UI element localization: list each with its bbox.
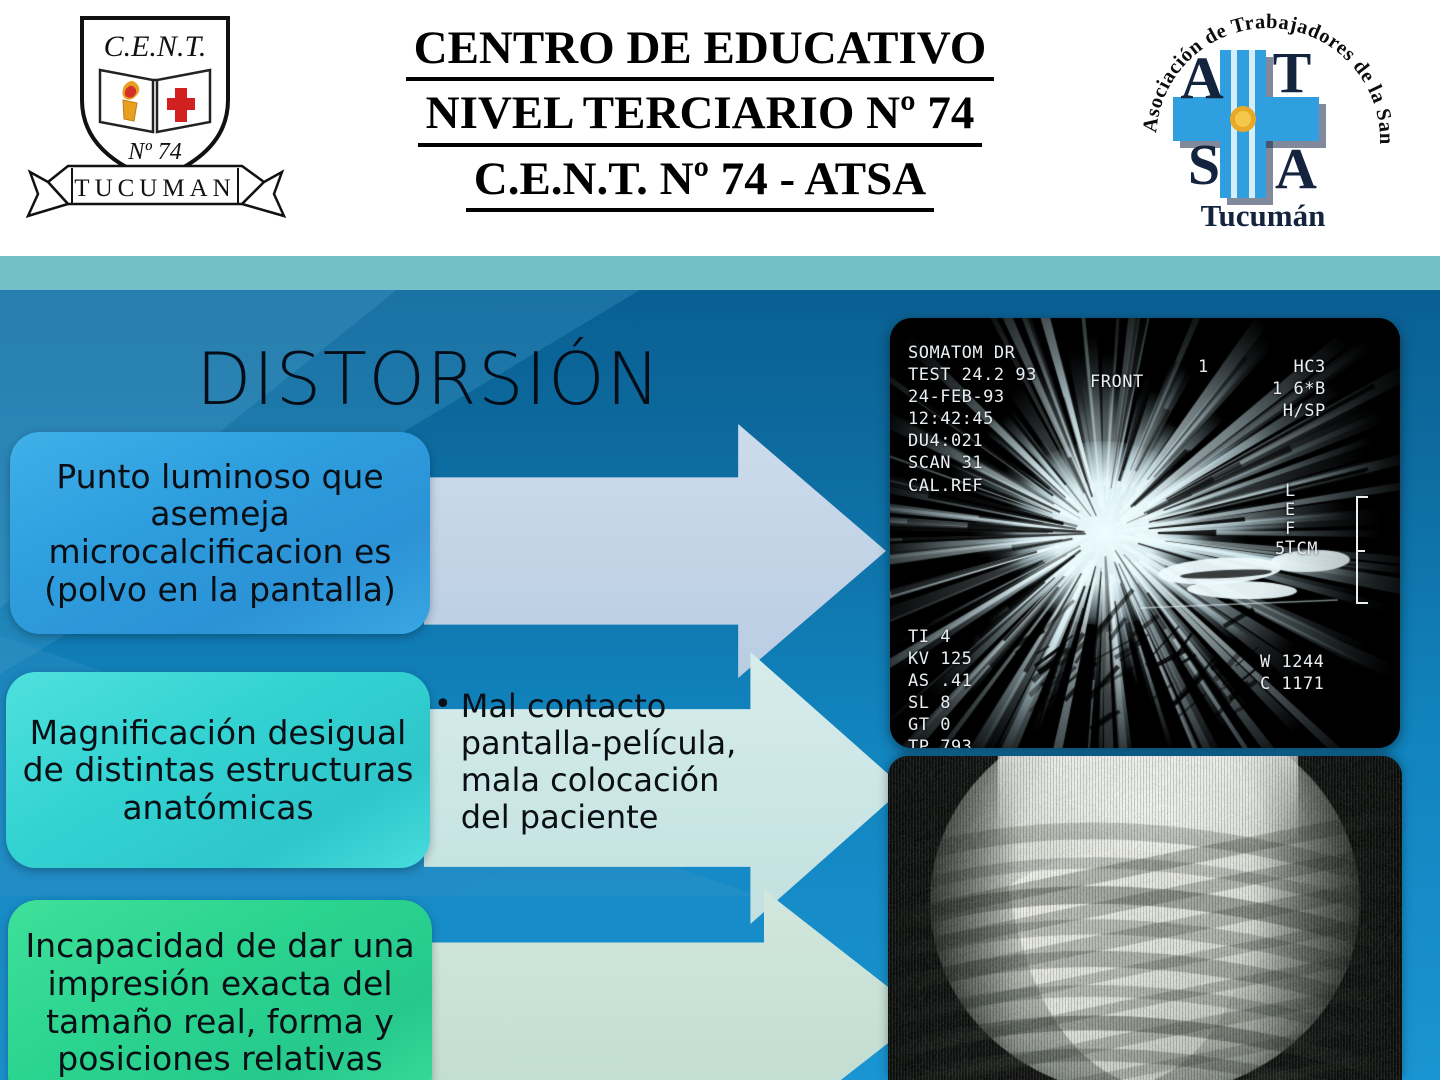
xray-grid-artifact-image — [888, 756, 1402, 1080]
concept-box-magnificacion[interactable]: Magnificación desigual de distintas estr… — [6, 672, 430, 868]
cent-number-text: Nº 74 — [127, 139, 181, 165]
ribbon-banner: TUCUMAN — [28, 166, 284, 216]
ct-side-label: LEFT — [1285, 438, 1349, 603]
ct-orientation-label: FRONT — [1090, 371, 1144, 393]
concept-box-punto-luminoso[interactable]: Punto luminoso que asemeja microcalcific… — [10, 432, 430, 634]
title-line-2: NIVEL TERCIARIO Nº 74 — [418, 85, 983, 146]
atsa-letter-t: T — [1273, 40, 1312, 105]
ct-scan-image: SOMATOM DR TEST 24.2 93 24-FEB-93 12:42:… — [890, 318, 1400, 748]
ct-header-overlay: SOMATOM DR TEST 24.2 93 24-FEB-93 12:42:… — [908, 342, 1037, 497]
xray-canvas — [888, 756, 1402, 1080]
cent-school-logo: C.E.N.T. — [20, 4, 290, 234]
cent-acronym-text: C.E.N.T. — [104, 30, 207, 63]
ct-protocol-overlay: HC3 1 6*B H/SP — [1272, 356, 1326, 422]
atsa-union-logo: Asociación de Trabajadores de la Sanidad… — [1130, 2, 1405, 240]
ct-technique-overlay: TI 4 KV 125 AS .41 SL 8 GT 0 TP 793 — [908, 626, 972, 748]
atsa-letter-a1: A — [1180, 45, 1223, 111]
section-title: DISTORSIÓN — [196, 337, 662, 421]
ct-scale-label: 5 CM — [1275, 538, 1318, 560]
page-title: CENTRO DE EDUCATIVO NIVEL TERCIARIO Nº 7… — [300, 8, 1100, 228]
atsa-logo-svg: Asociación de Trabajadores de la Sanidad… — [1130, 2, 1405, 240]
bullet-callout: • Mal contacto pantalla-película, mala c… — [434, 688, 764, 836]
slide-header: C.E.N.T. — [0, 0, 1440, 256]
bullet-callout-text: Mal contacto pantalla-película, mala col… — [461, 688, 764, 836]
atsa-letter-s: S — [1188, 132, 1220, 197]
cent-logo-svg: C.E.N.T. — [20, 4, 290, 234]
ct-window-overlay: W 1244 C 1171 — [1260, 651, 1324, 695]
bullet-marker-icon: • — [434, 688, 452, 723]
title-line-1: CENTRO DE EDUCATIVO — [406, 20, 995, 81]
slide-canvas: C.E.N.T. — [0, 0, 1440, 1080]
atsa-city-text: Tucumán — [1201, 198, 1326, 233]
teal-accent-band — [0, 256, 1440, 290]
concept-box-incapacidad[interactable]: Incapacidad de dar una impresión exacta … — [8, 900, 432, 1080]
ct-scale-bar-icon — [1356, 496, 1368, 604]
cent-ribbon-text: TUCUMAN — [74, 175, 235, 202]
ct-series-number: 1 — [1198, 356, 1209, 378]
atsa-letter-a2: A — [1275, 136, 1317, 201]
title-line-3: C.E.N.T. Nº 74 - ATSA — [466, 151, 935, 212]
